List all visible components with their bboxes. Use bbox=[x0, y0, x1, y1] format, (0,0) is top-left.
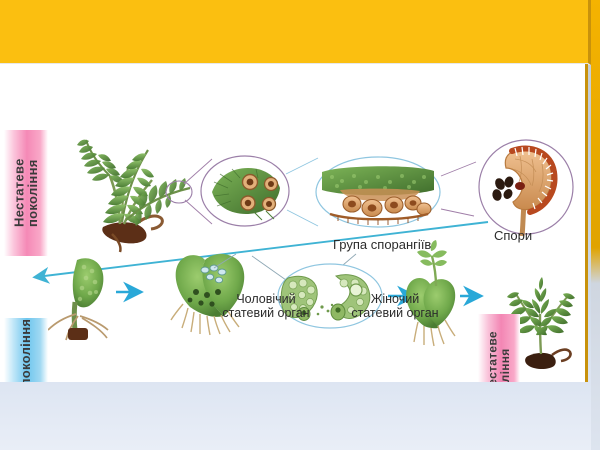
fern-sporophyte-figure bbox=[77, 140, 192, 252]
right-gold-edge bbox=[591, 0, 600, 450]
magnify-lines-3 bbox=[441, 162, 476, 216]
caption-female-organ: Жіночий статевий орган bbox=[340, 292, 450, 320]
top-yellow-band bbox=[0, 0, 591, 65]
slide-canvas: Група спорангіїв Спори Чоловічий статеви… bbox=[0, 0, 600, 450]
caption-male-organ: Чоловічий статевий орган bbox=[204, 292, 328, 320]
label-new-asexual-generation: Нове нестатеве покоління bbox=[478, 314, 520, 382]
germinating-spore-figure bbox=[48, 258, 108, 340]
caption-male-organ-line1: Чоловічий bbox=[236, 292, 295, 306]
caption-male-organ-line2: статевий орган bbox=[222, 306, 309, 320]
caption-female-organ-line1: Жіночий bbox=[371, 292, 419, 306]
sporangium-releasing-spores bbox=[479, 140, 573, 236]
caption-female-organ-line2: статевий орган bbox=[351, 306, 438, 320]
leaf-sori-closeup bbox=[201, 156, 289, 226]
caption-sporangia-group: Група спорангіїв bbox=[333, 237, 431, 252]
label-asexual-generation: Нестатеве покоління bbox=[4, 130, 48, 256]
lifecycle-diagram-panel: Група спорангіїв Спори Чоловічий статеви… bbox=[0, 64, 588, 382]
caption-spores: Спори bbox=[494, 228, 532, 243]
label-sexual-generation: Статеве покоління bbox=[4, 318, 48, 382]
magnify-lines-2 bbox=[286, 158, 318, 226]
sporangia-cross-section bbox=[316, 157, 440, 227]
